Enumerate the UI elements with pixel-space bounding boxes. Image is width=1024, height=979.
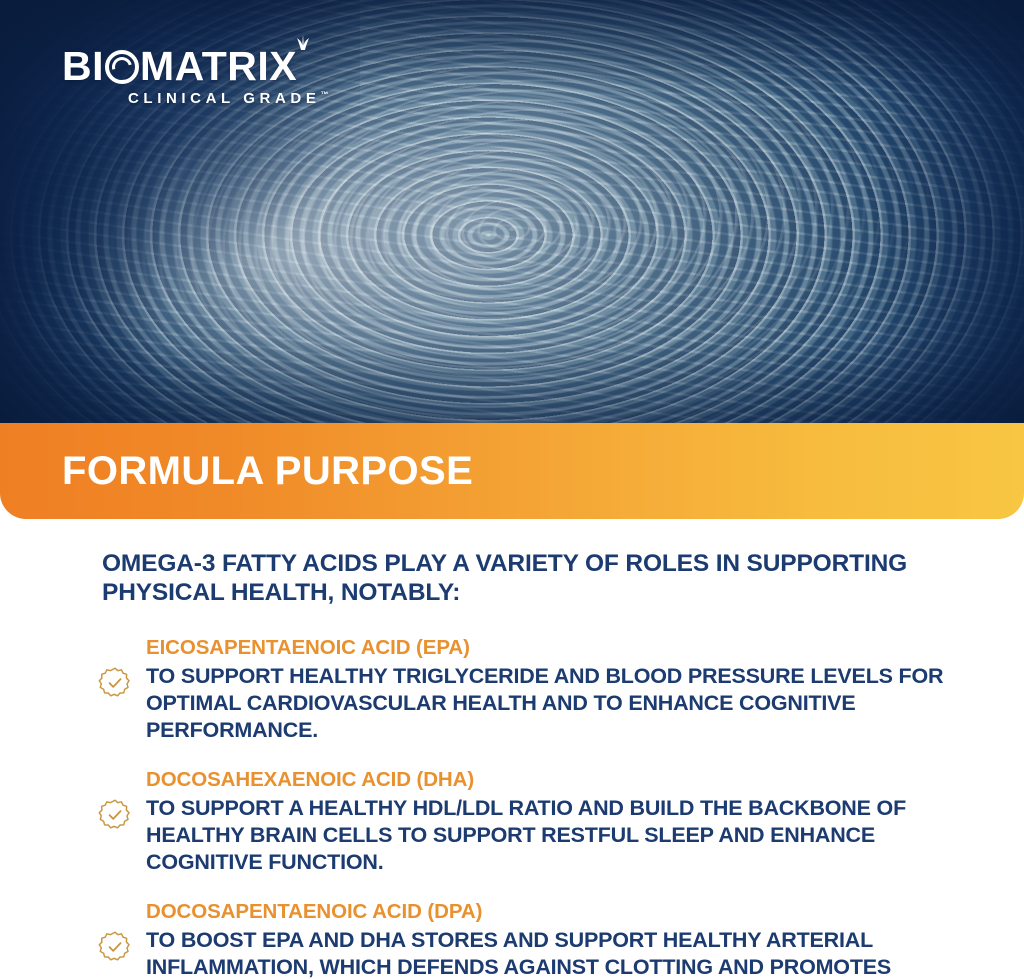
- logo-text-matr: MATR: [140, 44, 257, 88]
- list-item-description: TO SUPPORT A HEALTHY HDL/LDL RATIO AND B…: [146, 795, 946, 876]
- list-item-title: EICOSAPENTAENOIC ACID (EPA): [146, 635, 946, 661]
- ring-swirl-icon: [105, 50, 139, 84]
- section-banner-formula-purpose: FORMULA PURPOSE: [0, 423, 1024, 519]
- check-badge-icon: [98, 666, 132, 700]
- list-item-body: EICOSAPENTAENOIC ACID (EPA) TO SUPPORT H…: [146, 635, 946, 744]
- logo-text-bi: BI: [62, 44, 104, 88]
- benefits-list: EICOSAPENTAENOIC ACID (EPA) TO SUPPORT H…: [40, 635, 984, 979]
- intro-paragraph: OMEGA-3 FATTY ACIDS PLAY A VARIETY OF RO…: [102, 549, 982, 607]
- list-item-title: DOCOSAPENTAENOIC ACID (DPA): [146, 899, 946, 925]
- list-item: DOCOSAPENTAENOIC ACID (DPA) TO BOOST EPA…: [40, 899, 984, 979]
- section-title: FORMULA PURPOSE: [62, 449, 473, 493]
- list-item: DOCOSAHEXAENOIC ACID (DHA) TO SUPPORT A …: [40, 767, 984, 876]
- logo-text-x: X: [269, 44, 297, 88]
- check-badge-icon: [98, 798, 132, 832]
- brand-tagline-text: CLINICAL GRADE: [128, 90, 320, 107]
- content-area: OMEGA-3 FATTY ACIDS PLAY A VARIETY OF RO…: [0, 519, 1024, 979]
- product-info-page: BIMATRIX CLINICAL GRADE™ FORMULA PURPOSE…: [0, 0, 1024, 979]
- leaf-sprout-icon: [290, 32, 316, 50]
- list-item-body: DOCOSAPENTAENOIC ACID (DPA) TO BOOST EPA…: [146, 899, 946, 979]
- list-item: EICOSAPENTAENOIC ACID (EPA) TO SUPPORT H…: [40, 635, 984, 744]
- logo-text-i: I: [257, 44, 269, 88]
- list-item-description: TO SUPPORT HEALTHY TRIGLYCERIDE AND BLOO…: [146, 663, 946, 744]
- brand-tagline: CLINICAL GRADE™: [128, 90, 328, 107]
- brand-logo: BIMATRIX CLINICAL GRADE™: [62, 44, 328, 107]
- check-badge-icon: [98, 930, 132, 964]
- trademark-symbol: ™: [320, 90, 328, 99]
- list-item-body: DOCOSAHEXAENOIC ACID (DHA) TO SUPPORT A …: [146, 767, 946, 876]
- hero-image-fish-school: BIMATRIX CLINICAL GRADE™: [0, 0, 1024, 424]
- list-item-title: DOCOSAHEXAENOIC ACID (DHA): [146, 767, 946, 793]
- list-item-description: TO BOOST EPA AND DHA STORES AND SUPPORT …: [146, 927, 946, 979]
- brand-logo-wordmark: BIMATRIX: [62, 44, 328, 88]
